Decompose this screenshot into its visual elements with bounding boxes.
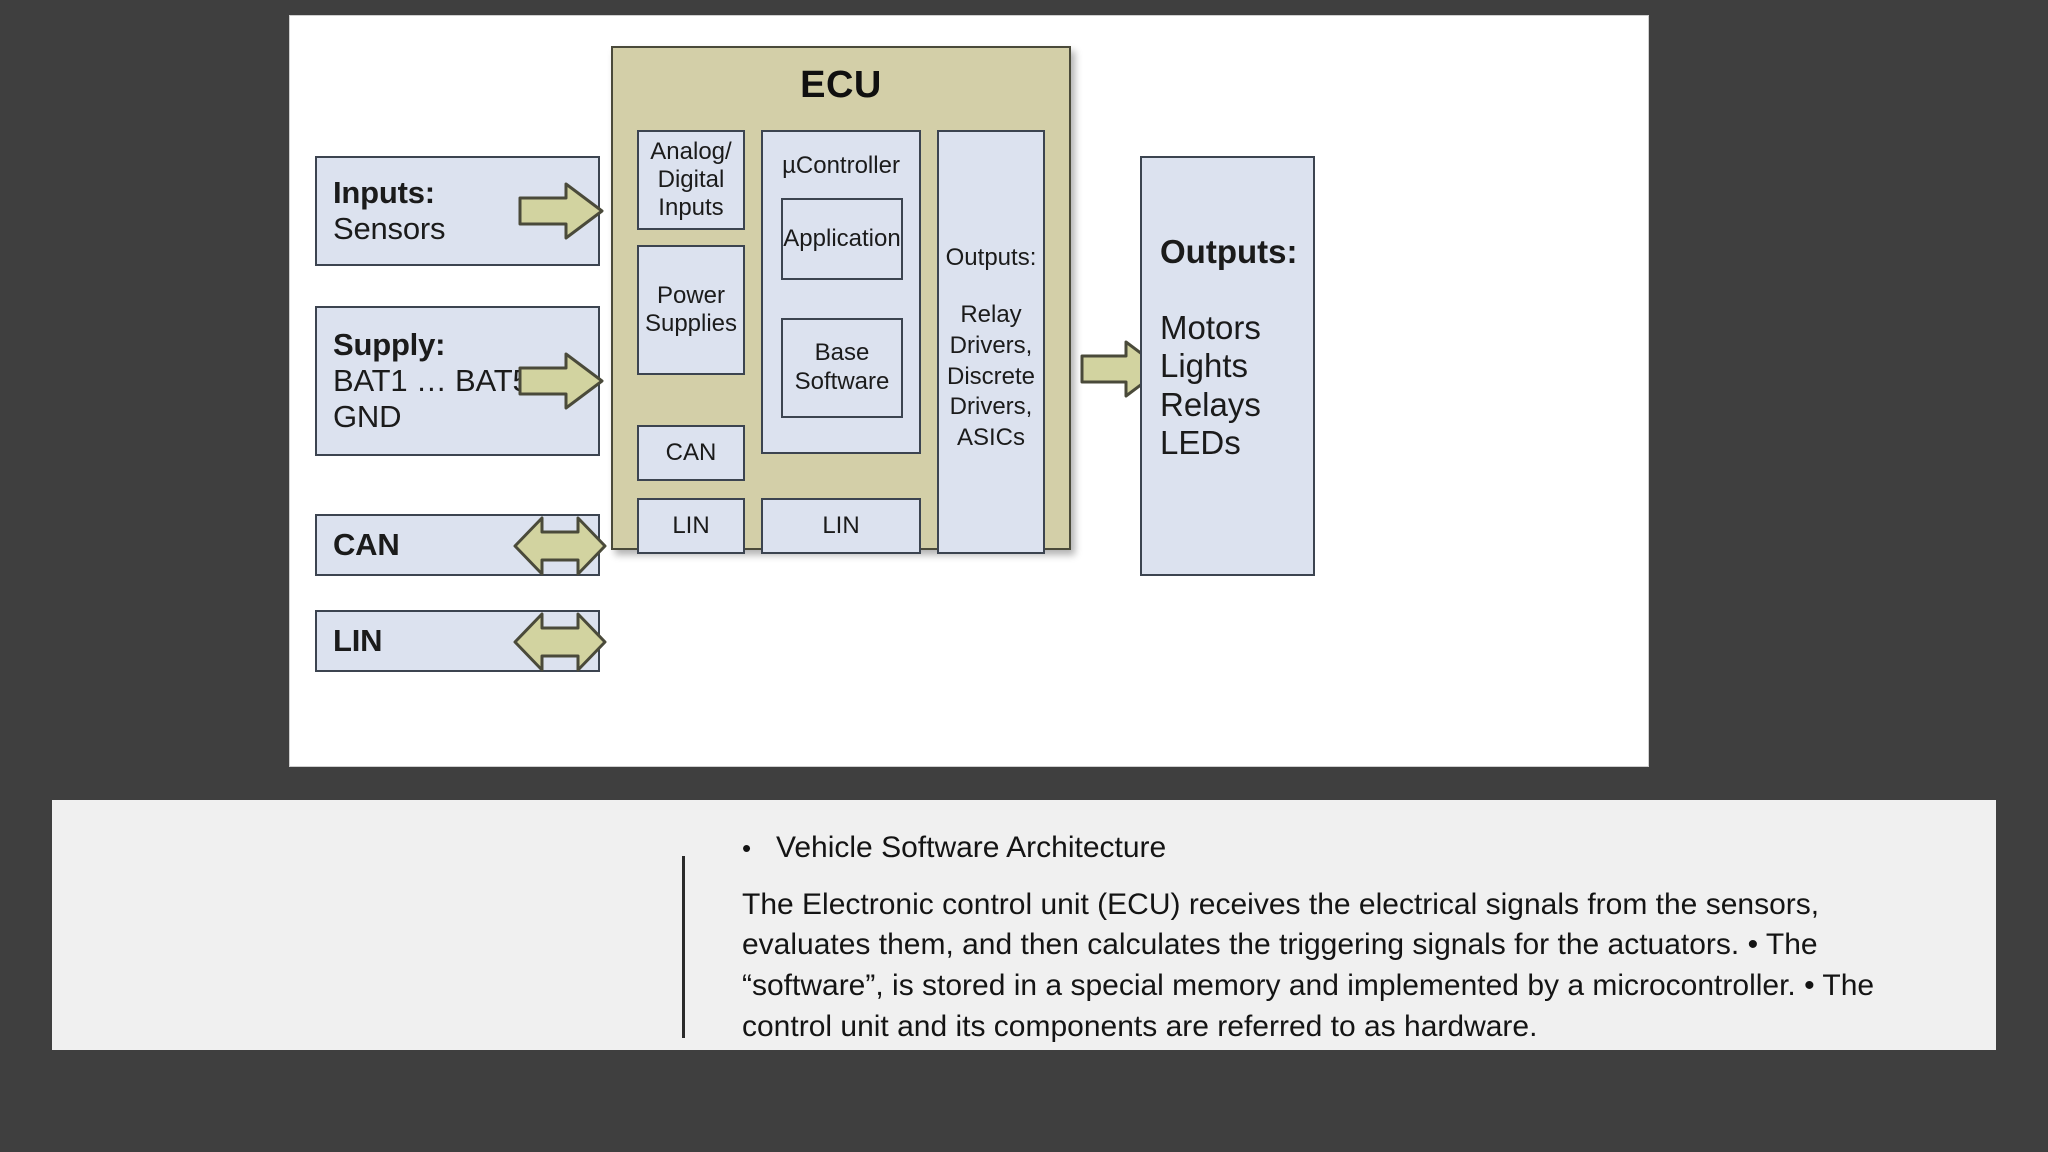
ecu-base-software-label: Base Software bbox=[795, 339, 890, 397]
ecu-power-supplies-box: Power Supplies bbox=[637, 245, 745, 375]
arrow-lin-bidirectional-icon bbox=[512, 608, 608, 676]
ecu-panel: ECU Analog/ Digital Inputs Power Supplie… bbox=[611, 46, 1071, 550]
ecu-microcontroller-label: µController bbox=[782, 152, 900, 180]
ecu-application-block: Application bbox=[781, 198, 903, 280]
ecu-outputs-items: Relay Drivers, Discrete Drivers, ASICs bbox=[947, 300, 1035, 454]
bullet-icon: • bbox=[742, 831, 776, 866]
notes-paragraph: The Electronic control unit (ECU) receiv… bbox=[742, 885, 1922, 1048]
ecu-microcontroller-box: µController Application Base Software bbox=[761, 130, 921, 454]
ecu-title: ECU bbox=[613, 64, 1069, 107]
notes-vertical-rule bbox=[682, 856, 685, 1038]
ecu-controller-lin-box: LIN bbox=[761, 498, 921, 554]
outputs-box: Outputs: Motors Lights Relays LEDs bbox=[1140, 156, 1315, 576]
arrow-can-bidirectional-icon bbox=[512, 512, 608, 580]
ecu-outputs-title: Outputs: bbox=[946, 244, 1037, 272]
arrow-supply-to-ecu-icon bbox=[518, 350, 604, 412]
notes-bullet-item: • Vehicle Software Architecture bbox=[742, 828, 1922, 869]
ecu-analog-digital-inputs-label: Analog/ Digital Inputs bbox=[650, 138, 731, 223]
arrow-inputs-to-ecu-icon bbox=[518, 180, 604, 242]
outputs-box-items: Motors Lights Relays LEDs bbox=[1160, 309, 1261, 462]
notes-bullet-text: Vehicle Software Architecture bbox=[776, 828, 1166, 869]
ecu-can-box: CAN bbox=[637, 425, 745, 481]
diagram-card: Inputs: Sensors Supply: BAT1 … BAT5 GND … bbox=[290, 16, 1648, 766]
ecu-analog-digital-inputs-box: Analog/ Digital Inputs bbox=[637, 130, 745, 230]
ecu-controller-lin-label: LIN bbox=[822, 512, 859, 540]
notes-body: • Vehicle Software Architecture The Elec… bbox=[742, 828, 1922, 1048]
ecu-application-label: Application bbox=[783, 225, 900, 254]
outputs-box-title: Outputs: bbox=[1160, 233, 1297, 271]
ecu-outputs-box: Outputs: Relay Drivers, Discrete Drivers… bbox=[937, 130, 1045, 554]
ecu-lin-box: LIN bbox=[637, 498, 745, 554]
ecu-can-label: CAN bbox=[666, 439, 717, 467]
ecu-lin-label: LIN bbox=[672, 512, 709, 540]
ecu-power-supplies-label: Power Supplies bbox=[645, 282, 737, 339]
ecu-base-software-block: Base Software bbox=[781, 318, 903, 418]
notes-panel: • Vehicle Software Architecture The Elec… bbox=[52, 800, 1996, 1050]
